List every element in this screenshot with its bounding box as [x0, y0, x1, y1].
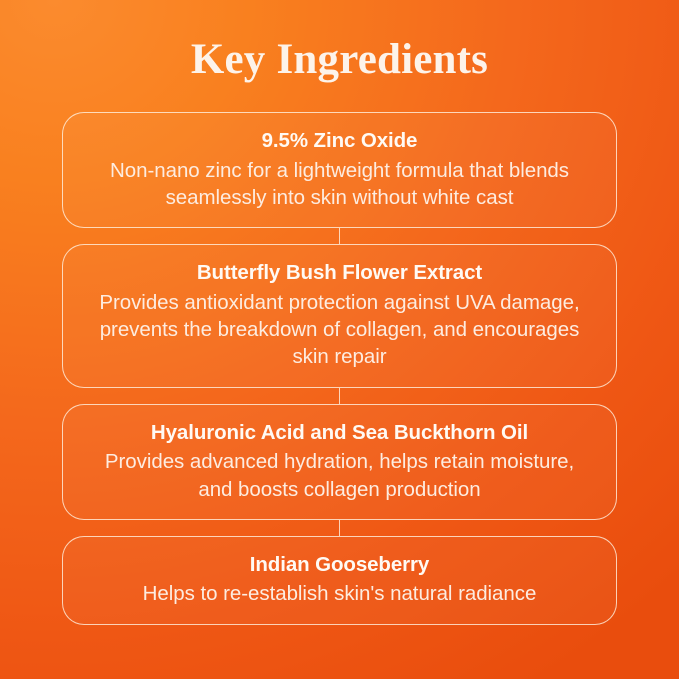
card-connector-line: [62, 228, 617, 244]
page-title: Key Ingredients: [0, 36, 679, 83]
ingredient-card: 9.5% Zinc Oxide Non-nano zinc for a ligh…: [62, 112, 617, 228]
ingredient-description: Provides antioxidant protection against …: [89, 289, 590, 371]
card-connector-line: [62, 388, 617, 404]
ingredient-name: Indian Gooseberry: [89, 551, 590, 579]
ingredient-description: Helps to re-establish skin's natural rad…: [89, 580, 590, 607]
ingredient-description: Provides advanced hydration, helps retai…: [89, 448, 590, 503]
ingredient-card: Hyaluronic Acid and Sea Buckthorn Oil Pr…: [62, 404, 617, 520]
card-connector-line: [62, 520, 617, 536]
ingredient-card: Indian Gooseberry Helps to re-establish …: [62, 536, 617, 625]
ingredient-card-stack: 9.5% Zinc Oxide Non-nano zinc for a ligh…: [62, 112, 617, 625]
ingredient-name: Hyaluronic Acid and Sea Buckthorn Oil: [89, 419, 590, 447]
ingredient-name: Butterfly Bush Flower Extract: [89, 259, 590, 287]
ingredient-card: Butterfly Bush Flower Extract Provides a…: [62, 244, 617, 387]
ingredients-infographic: Key Ingredients 9.5% Zinc Oxide Non-nano…: [0, 0, 679, 679]
ingredient-description: Non-nano zinc for a lightweight formula …: [89, 157, 590, 212]
ingredient-name: 9.5% Zinc Oxide: [89, 127, 590, 155]
